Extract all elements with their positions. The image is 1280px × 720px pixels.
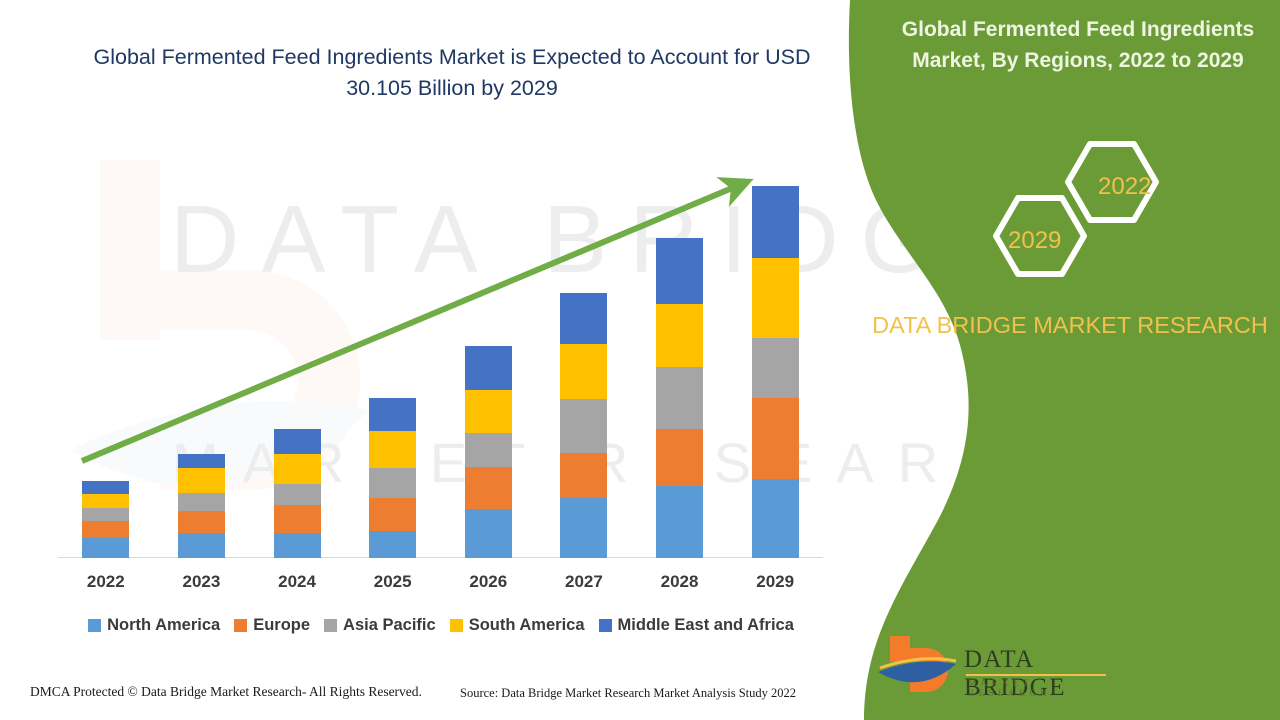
- legend-swatch-icon: [234, 619, 247, 632]
- legend-label: North America: [107, 616, 220, 635]
- bar-segment: [178, 493, 225, 511]
- bar-segment: [465, 346, 512, 390]
- x-axis-tick-label: 2029: [727, 572, 823, 592]
- source-note: Source: Data Bridge Market Research Mark…: [460, 686, 796, 701]
- bar-segment: [560, 344, 607, 399]
- x-axis-tick-label: 2026: [441, 572, 537, 592]
- stacked-bar: [82, 481, 129, 558]
- legend-swatch-icon: [450, 619, 463, 632]
- logo-tagline: MARKET RESEARCH: [968, 678, 1112, 698]
- bar-segment: [560, 399, 607, 453]
- legend-item[interactable]: North America: [88, 616, 220, 635]
- stacked-bar: [752, 186, 799, 558]
- bar-segment: [274, 533, 321, 558]
- bar-segment: [656, 304, 703, 367]
- legend-swatch-icon: [88, 619, 101, 632]
- bar-column: [727, 150, 823, 558]
- stacked-bar: [369, 398, 416, 558]
- bar-segment: [274, 454, 321, 484]
- data-bridge-logo: DATA BRIDGE MARKET RESEARCH: [876, 632, 1112, 702]
- x-axis-tick-label: 2024: [249, 572, 345, 592]
- bar-column: [345, 150, 441, 558]
- legend-label: Asia Pacific: [343, 616, 436, 635]
- bar-segment: [82, 508, 129, 521]
- bar-column: [154, 150, 250, 558]
- hexagon-badges: 2022 2029: [986, 130, 1196, 290]
- stacked-bar: [178, 454, 225, 558]
- bar-series-container: [58, 150, 823, 558]
- bar-segment: [465, 433, 512, 467]
- bar-segment: [560, 498, 607, 558]
- legend-item[interactable]: South America: [450, 616, 585, 635]
- bar-segment: [369, 468, 416, 498]
- bar-segment: [560, 293, 607, 344]
- x-axis-tick-label: 2023: [154, 572, 250, 592]
- bar-segment: [369, 398, 416, 431]
- stacked-bar: [274, 429, 321, 558]
- bar-segment: [178, 454, 225, 468]
- legend-item[interactable]: Europe: [234, 616, 310, 635]
- x-axis-tick-label: 2022: [58, 572, 154, 592]
- x-axis-labels: 20222023202420252026202720282029: [58, 572, 823, 592]
- bar-segment: [178, 511, 225, 533]
- bar-segment: [274, 429, 321, 454]
- bar-segment: [82, 481, 129, 494]
- bar-segment: [369, 498, 416, 531]
- bar-segment: [656, 238, 703, 304]
- bar-segment: [656, 367, 703, 429]
- bar-segment: [369, 531, 416, 558]
- bar-segment: [752, 398, 799, 479]
- bar-segment: [274, 505, 321, 533]
- bar-segment: [752, 479, 799, 558]
- stacked-bar: [560, 293, 607, 558]
- bar-segment: [656, 486, 703, 558]
- bar-segment: [560, 453, 607, 498]
- green-panel-content: Global Fermented Feed Ingredients Market…: [866, 0, 1280, 720]
- copyright-notice: DMCA Protected © Data Bridge Market Rese…: [30, 684, 422, 700]
- legend-label: South America: [469, 616, 585, 635]
- brand-name: DATA BRIDGE MARKET RESEARCH: [870, 308, 1270, 342]
- chart-infographic: DATA BRIDGE MARKET RESEARCH Global Ferme…: [0, 0, 1280, 720]
- logo-mark-icon: [876, 632, 962, 702]
- chart-legend: North AmericaEuropeAsia PacificSouth Ame…: [52, 616, 830, 635]
- legend-swatch-icon: [599, 619, 612, 632]
- bar-column: [536, 150, 632, 558]
- stacked-bar: [656, 238, 703, 558]
- bar-column: [58, 150, 154, 558]
- bar-segment: [274, 484, 321, 505]
- legend-swatch-icon: [324, 619, 337, 632]
- x-axis-tick-label: 2028: [632, 572, 728, 592]
- logo-divider: [966, 674, 1106, 676]
- bar-segment: [752, 186, 799, 258]
- bar-segment: [465, 390, 512, 433]
- legend-label: Europe: [253, 616, 310, 635]
- bar-segment: [752, 258, 799, 338]
- bar-segment: [656, 429, 703, 486]
- bar-column: [441, 150, 537, 558]
- stacked-bar: [465, 346, 512, 558]
- bar-segment: [82, 494, 129, 508]
- bar-segment: [178, 533, 225, 558]
- bar-segment: [465, 467, 512, 509]
- legend-item[interactable]: Asia Pacific: [324, 616, 436, 635]
- bar-column: [249, 150, 345, 558]
- hex-label-from-year: 2029: [1008, 227, 1061, 255]
- hex-label-to-year: 2022: [1098, 173, 1151, 201]
- legend-item[interactable]: Middle East and Africa: [599, 616, 794, 635]
- bar-segment: [178, 468, 225, 493]
- hexagon-outline-icon: [986, 130, 1196, 290]
- bar-segment: [752, 338, 799, 398]
- chart-title: Global Fermented Feed Ingredients Market…: [62, 42, 842, 104]
- bar-segment: [369, 431, 416, 468]
- bar-segment: [465, 509, 512, 558]
- bar-segment: [82, 538, 129, 558]
- panel-title: Global Fermented Feed Ingredients Market…: [880, 14, 1276, 76]
- bar-column: [632, 150, 728, 558]
- x-axis-tick-label: 2027: [536, 572, 632, 592]
- x-axis-tick-label: 2025: [345, 572, 441, 592]
- legend-label: Middle East and Africa: [618, 616, 794, 635]
- bar-segment: [82, 521, 129, 538]
